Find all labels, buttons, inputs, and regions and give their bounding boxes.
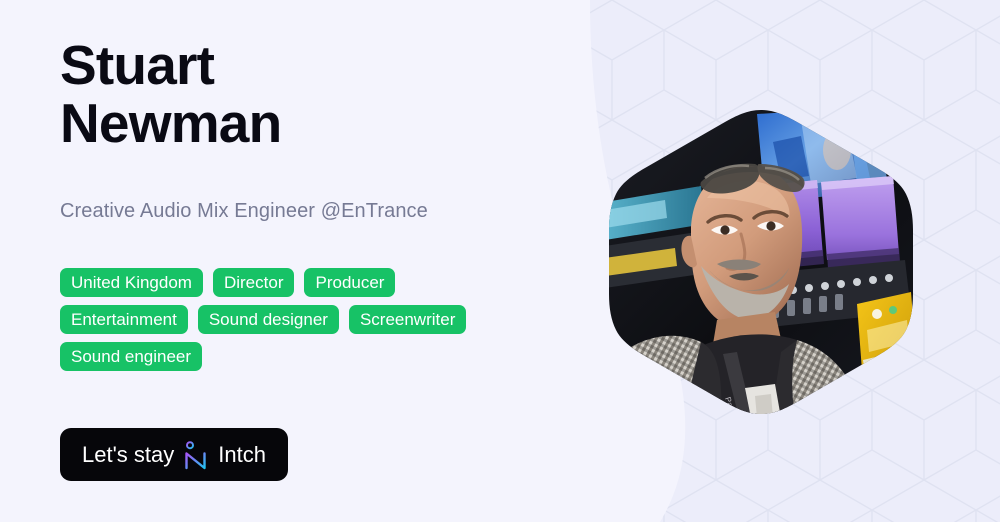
cta-text-after: Intch <box>218 428 266 481</box>
profile-headline: Creative Audio Mix Engineer @EnTrance <box>60 198 428 224</box>
name-line-2: Newman <box>60 92 281 154</box>
name-line-1: Stuart <box>60 34 214 96</box>
tag-item[interactable]: United Kingdom <box>60 268 203 297</box>
intch-logo-icon <box>183 441 209 471</box>
tag-item[interactable]: Screenwriter <box>349 305 466 334</box>
profile-photo: Panasonic <box>605 106 917 418</box>
profile-card: Panasonic Stuart Newman Creative Audio M… <box>0 0 1000 522</box>
tag-item[interactable]: Sound designer <box>198 305 339 334</box>
profile-content: Stuart Newman Creative Audio Mix Enginee… <box>60 0 600 522</box>
tag-item[interactable]: Sound engineer <box>60 342 202 371</box>
tag-item[interactable]: Entertainment <box>60 305 188 334</box>
cta-text-before: Let's stay <box>82 428 174 481</box>
page-title: Stuart Newman <box>60 36 420 152</box>
profile-tags: United Kingdom Director Producer Enterta… <box>60 268 530 371</box>
tag-item[interactable]: Producer <box>304 268 395 297</box>
avatar: Panasonic <box>605 106 917 418</box>
lets-stay-intch-button[interactable]: Let's stay Intch <box>60 428 288 481</box>
tag-item[interactable]: Director <box>213 268 295 297</box>
